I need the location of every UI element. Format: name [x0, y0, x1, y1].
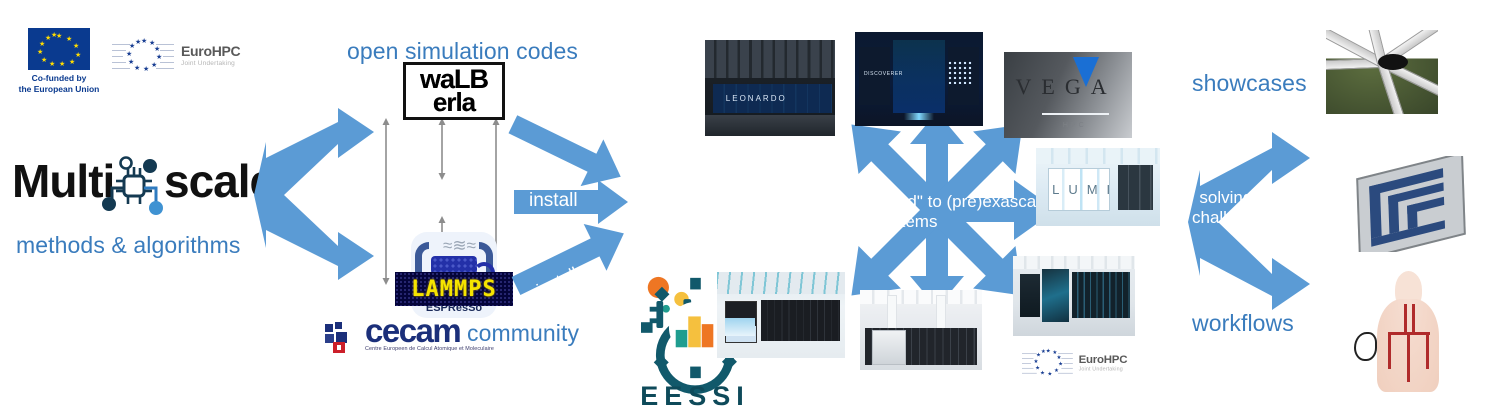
open-simulation-codes-heading: open simulation codes	[347, 38, 578, 65]
eurohpc-logo-top: ★ ★ ★ ★ ★ ★ ★ ★ ★ ★ ★ EuroHPC Joint Unde…	[112, 34, 240, 78]
brand-text-multi: Multi	[12, 154, 114, 208]
hpc-photo-vega: VEGA HPC	[1004, 52, 1132, 138]
eurohpc-wordmark: EuroHPC Joint Undertaking	[181, 44, 240, 68]
eu-funding-caption: Co-funded by the European Union	[12, 73, 106, 94]
cecam-mark-icon	[325, 322, 359, 352]
showcases-label: showcases	[1192, 70, 1307, 97]
eu-flag-icon: ★ ★ ★ ★ ★ ★ ★ ★ ★ ★ ★ ★	[28, 28, 90, 70]
hpc-photo-deucalion	[1013, 256, 1135, 336]
showcase-image-maze	[1346, 156, 1472, 252]
workflows-label: workflows	[1192, 310, 1294, 337]
eurohpc-ring-icon: ★ ★ ★ ★ ★ ★ ★ ★ ★ ★ ★	[112, 34, 174, 78]
hpc-photo-leonardo: LEONARDO	[705, 40, 835, 136]
eessi-wordmark: EESSI	[636, 381, 754, 412]
chip-network-icon	[104, 156, 164, 216]
showcase-image-anatomy	[1344, 266, 1472, 392]
solving-challenges-label: solving societal challenges by HPC	[1192, 188, 1322, 227]
hpc-photo-discoverer: DISCOVERER	[855, 32, 983, 126]
stream-label: automatically "streamed" to (pre)exascal…	[736, 192, 1036, 231]
eu-flag-logo: ★ ★ ★ ★ ★ ★ ★ ★ ★ ★ ★ ★ Co-funded by the…	[28, 28, 106, 94]
vega-subcaption: HPC	[1063, 122, 1087, 129]
hpc-photo-lumi: LUMI	[1036, 148, 1160, 226]
install-arrow-walberla	[512, 96, 634, 170]
vega-caption: VEGA	[1016, 74, 1117, 100]
walberla-logo: waLB erla	[403, 62, 505, 120]
maze-plate	[1356, 156, 1465, 252]
hpc-photo-karolina	[717, 272, 845, 358]
community-label: community	[467, 320, 579, 347]
showcase-image-helicopter	[1326, 30, 1438, 114]
eurohpc-logo-bottom: ★ ★ ★ ★ ★ ★ ★ ★ ★ ★ ★ EuroHPC Joint Unde…	[1022, 345, 1127, 381]
methods-algorithms-label: methods & algorithms	[16, 232, 240, 259]
steam-icon: ≈≋≈	[443, 236, 476, 256]
hpc-photo-meluxina	[860, 290, 982, 370]
install-label-espresso: install	[529, 190, 578, 212]
eurohpc-wordmark: EuroHPC Joint Undertaking	[1079, 353, 1128, 372]
eurohpc-ring-icon: ★ ★ ★ ★ ★ ★ ★ ★ ★ ★ ★	[1022, 345, 1073, 381]
multiscale-brand: Multi scale	[12, 148, 262, 218]
couplings-label: couplings	[281, 185, 381, 207]
diagram-canvas: ★ ★ ★ ★ ★ ★ ★ ★ ★ ★ ★ ★ Co-funded by the…	[0, 0, 1512, 406]
lammps-logo: LAMMPS	[395, 272, 513, 306]
